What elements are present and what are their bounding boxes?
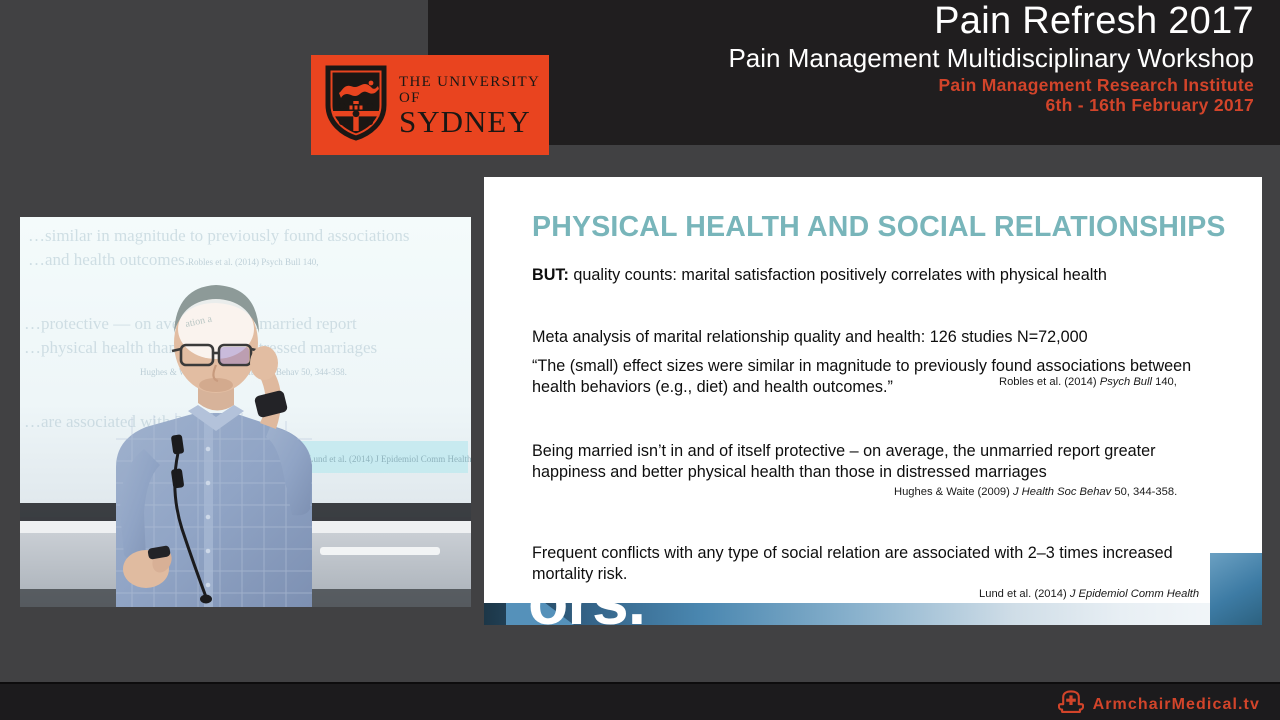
- sydney-shield-crest-icon: [325, 65, 387, 146]
- citation-lund: Lund et al. (2014) J Epidemiol Comm Heal…: [979, 588, 1199, 601]
- but-text: quality counts: marital satisfaction pos…: [569, 266, 1107, 284]
- slide-paragraph-married: Being married isn’t in and of itself pro…: [532, 441, 1232, 482]
- slide-paragraph-but: BUT: quality counts: marital satisfactio…: [532, 265, 1232, 286]
- citation-hughes-post: 50, 344-358.: [1111, 486, 1177, 498]
- event-title: Pain Refresh 2017: [728, 2, 1254, 40]
- svg-text:…similar in magnitude to previ: …similar in magnitude to previously foun…: [28, 226, 410, 245]
- citation-lund-pre: Lund et al. (2014): [979, 588, 1070, 600]
- event-subtitle: Pain Management Multidisciplinary Worksh…: [728, 45, 1254, 72]
- header-text-group: Pain Refresh 2017 Pain Management Multid…: [728, 2, 1254, 114]
- presentation-slide: ors. PHYSICAL HEALTH AND SOCIAL RELATION…: [484, 177, 1262, 625]
- armchair-medical-cross-icon: [1058, 690, 1084, 719]
- university-of-sydney-logo: THE UNIVERSITY OF SYDNEY: [311, 55, 549, 155]
- citation-robles-post: 140,: [1152, 376, 1177, 388]
- logo-line-sydney: SYDNEY: [399, 104, 531, 139]
- presenter-video-pane: …similar in magnitude to previously foun…: [20, 217, 471, 607]
- but-label: BUT:: [532, 266, 569, 284]
- logo-line-university-of: THE UNIVERSITY OF: [399, 74, 540, 106]
- citation-hughes-pre: Hughes & Waite (2009): [894, 486, 1013, 498]
- svg-text:Robles et al. (2014) Psych Bul: Robles et al. (2014) Psych Bull 140,: [188, 257, 319, 267]
- presenter-video-frame: …similar in magnitude to previously foun…: [20, 217, 471, 607]
- citation-robles: Robles et al. (2014) Psych Bull 140,: [999, 376, 1177, 389]
- slide-paragraph-meta-analysis: Meta analysis of marital relationship qu…: [532, 327, 1232, 348]
- slide-content: PHYSICAL HEALTH AND SOCIAL RELATIONSHIPS…: [484, 177, 1262, 625]
- citation-robles-pre: Robles et al. (2014): [999, 376, 1100, 388]
- event-dates: 6th - 16th February 2017: [728, 97, 1254, 115]
- slide-paragraph-conflict: Frequent conflicts with any type of soci…: [532, 543, 1232, 584]
- organisation-name: Pain Management Research Institute: [728, 77, 1254, 95]
- citation-hughes-waite: Hughes & Waite (2009) J Health Soc Behav…: [894, 486, 1177, 499]
- citation-lund-journal: J Epidemiol Comm Health: [1070, 588, 1199, 600]
- sydney-wordmark: THE UNIVERSITY OF SYDNEY: [399, 74, 549, 137]
- svg-text:…and health outcomes.: …and health outcomes.: [28, 250, 189, 269]
- citation-robles-journal: Psych Bull: [1100, 376, 1152, 388]
- svg-text:Lund et al. (2014) J Epidemiol: Lund et al. (2014) J Epidemiol Comm Heal…: [308, 454, 471, 464]
- brand-watermark[interactable]: ArmchairMedical.tv: [1058, 690, 1260, 719]
- citation-hughes-journal: J Health Soc Behav: [1013, 486, 1111, 498]
- brand-name: ArmchairMedical.tv: [1093, 696, 1260, 714]
- slide-title: PHYSICAL HEALTH AND SOCIAL RELATIONSHIPS: [532, 211, 1226, 244]
